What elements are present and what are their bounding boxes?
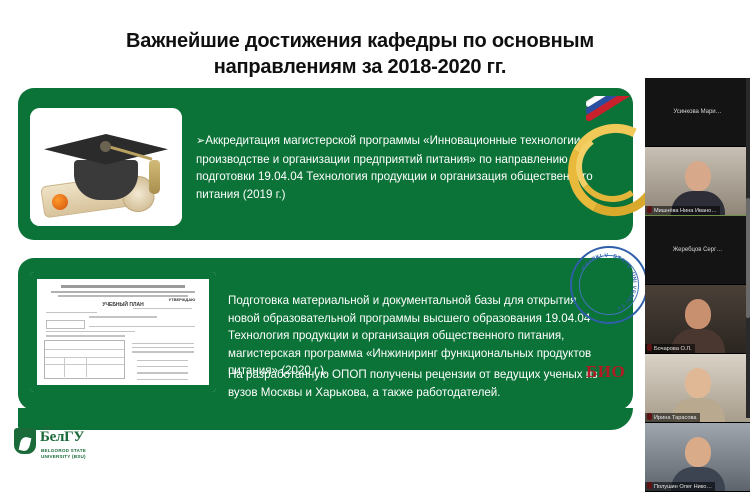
video-panel-scrollbar-thumb[interactable]	[746, 198, 750, 318]
curriculum-document-image-card: УТВЕРЖДАЮ УЧЕБНЫЙ ПЛАН	[30, 272, 216, 392]
participant-name: Усинкова Мари…	[670, 107, 724, 116]
doc-rule-f	[132, 343, 194, 345]
doc-table-left	[44, 340, 125, 378]
video-tile[interactable]: Полушин Олег Нико…	[645, 423, 750, 492]
video-participants-panel[interactable]: Усинкова Мари… Мишнёва Нина Ивано… Жереб…	[645, 78, 750, 418]
document-scan: УТВЕРЖДАЮ УЧЕБНЫЙ ПЛАН	[30, 272, 216, 392]
video-tile[interactable]: Бочарова О.Л.	[645, 285, 750, 354]
graduation-cap-illustration	[30, 108, 182, 226]
doc-header-rule-2	[51, 291, 195, 293]
doc-rule-c	[89, 326, 196, 328]
doc-approved-label: УТВЕРЖДАЮ	[169, 297, 196, 302]
doc-rule-g	[132, 347, 194, 349]
doc-rule-h	[132, 351, 194, 353]
doc-rule-a	[46, 312, 98, 314]
doc-sign-rule-4	[137, 372, 189, 374]
video-tile[interactable]: Ирина Тарасова	[645, 354, 750, 423]
belsu-shield-icon	[14, 428, 36, 454]
doc-sign-rule-5	[137, 379, 189, 381]
belsu-leaf-icon	[19, 436, 32, 452]
achievement-text-1-body: Аккредитация магистерской программы «Инн…	[196, 134, 593, 201]
belsu-logo-subtitle-line-2: UNIVERSITY (BSU)	[41, 454, 86, 460]
participant-name: Мишнёва Нина Ивано…	[645, 206, 720, 215]
achievement-text-2-paragraph-2: На разработанную ОПОП получены рецензии …	[228, 366, 610, 401]
participant-name: Бочарова О.Л.	[645, 344, 695, 353]
doc-sign-rule-2	[137, 360, 189, 362]
video-tile[interactable]: Мишнёва Нина Ивано…	[645, 147, 750, 216]
video-panel-scrollbar[interactable]	[746, 78, 750, 418]
achievement-text-1: ➢Аккредитация магистерской программы «Ин…	[196, 132, 606, 203]
arrow-bullet-icon: ➢	[196, 135, 205, 147]
video-tile[interactable]: Усинкова Мари…	[645, 78, 750, 147]
belsu-logo: НИУ БелГУ BELGOROD STATE UNIVERSITY (BSU…	[14, 424, 164, 464]
belsu-logo-name: БелГУ	[40, 429, 84, 446]
page-title: Важнейшие достижения кафедры по основным…	[70, 28, 650, 80]
doc-sign-rule-3	[137, 366, 189, 368]
doc-small-box	[46, 320, 86, 328]
tassel-icon	[149, 160, 160, 194]
belsu-logo-subtitle-line-1: BELGOROD STATE	[41, 448, 86, 454]
participant-name: Полушин Олег Нико…	[645, 482, 715, 491]
presentation-slide: Важнейшие достижения кафедры по основным…	[0, 0, 750, 500]
participant-name: Жеребцов Серг…	[670, 245, 726, 254]
graduation-cap-image-card	[30, 108, 182, 226]
mortarboard-body	[74, 160, 138, 200]
mortarboard-button	[100, 141, 111, 152]
doc-sign-rule-1	[133, 308, 191, 310]
doc-header-rule-1	[61, 285, 185, 288]
participant-name: Ирина Тарасова	[645, 413, 700, 422]
doc-rule-e	[46, 335, 125, 337]
doc-rule-b	[89, 316, 158, 318]
video-tile[interactable]: Жеребцов Серг…	[645, 216, 750, 285]
document-page: УТВЕРЖДАЮ УЧЕБНЫЙ ПЛАН	[37, 279, 209, 385]
title-line-1: Важнейшие достижения кафедры по основным	[126, 30, 594, 52]
title-line-2: направлениям за 2018-2020 гг.	[70, 54, 650, 80]
wax-seal-icon	[52, 194, 68, 210]
doc-rule-d	[46, 331, 135, 333]
belsu-logo-subtitle: BELGOROD STATE UNIVERSITY (BSU)	[41, 448, 86, 459]
